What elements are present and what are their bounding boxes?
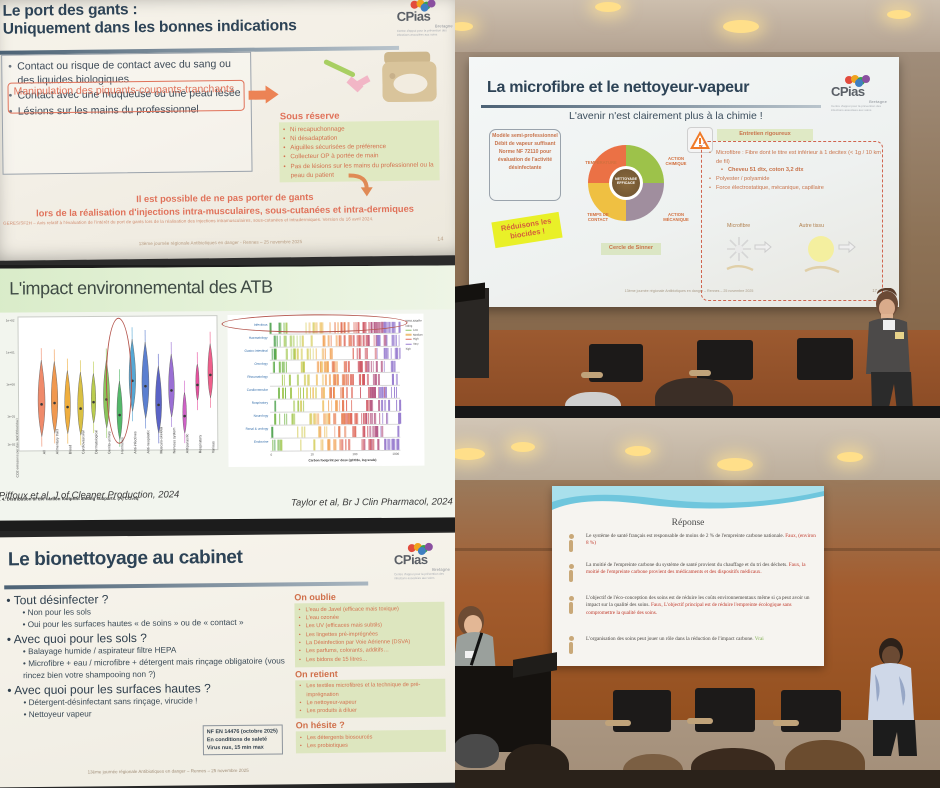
projected-slide: Le port des gants : Uniquement dans les … — [0, 0, 455, 261]
logo-dots-icon — [410, 0, 436, 9]
violin-shape — [138, 317, 152, 448]
heatmap-row — [270, 335, 405, 347]
list-item: Les produits à diluer — [300, 706, 442, 716]
logo-dots-icon — [408, 543, 434, 552]
projected-slide: Le bionettoyage au cabinet CPias Bretagn… — [0, 533, 455, 788]
list-item: Microfibre + eau / microfibre + détergen… — [23, 655, 295, 681]
sinner-circle-diagram: NETTOYAGE EFFICACE — [586, 143, 666, 223]
title-divider — [481, 105, 821, 108]
heatmap-row-label: Haematology — [228, 336, 268, 340]
seated-speaker — [859, 288, 923, 418]
heatmap-row — [270, 387, 405, 399]
page-title: Le bionettoyage au cabinet — [8, 547, 243, 571]
highlight-box-piquants: Manipulation des piquants-coupants-tranc… — [7, 80, 244, 114]
photo-collage: Le port des gants : Uniquement dans les … — [0, 0, 940, 788]
violin-shape — [190, 316, 204, 447]
spec-line: Débit de vapeur suffisant — [492, 141, 558, 149]
chair-armrest — [773, 720, 799, 726]
spec-line: Modèle semi-professionnel — [492, 133, 558, 141]
person-icon — [564, 534, 578, 552]
entretien-banner: Entretien rigoureux — [717, 129, 813, 141]
list-item: Microfibre : Fibre dont le titre est inf… — [709, 149, 881, 166]
page-title: Le port des gants : Uniquement dans les … — [2, 0, 332, 39]
chair-armrest — [689, 370, 711, 376]
person-icon — [564, 596, 578, 614]
violin-shape — [86, 317, 100, 448]
room-photo-microfibre: La microfibre et le nettoyeur-vapeur CPi… — [455, 0, 940, 418]
list-item: Les bidons de 15 litres… — [299, 655, 441, 665]
norm-note-box: NF EN 14476 (octobre 2025) En conditions… — [203, 724, 283, 755]
projection-screen: La microfibre et le nettoyeur-vapeur CPi… — [469, 57, 899, 307]
x-tick: Hormones — [120, 437, 124, 454]
seated-panelist — [853, 636, 929, 766]
x-tick: Nervous system — [172, 428, 176, 454]
sinner-segment-label-temps: TEMPS DE CONTACT — [579, 213, 617, 223]
x-tick: 1000 — [392, 452, 399, 456]
slide-header-swoosh — [552, 486, 824, 516]
slide-photo-port-des-gants: Le port des gants : Uniquement dans les … — [0, 0, 455, 265]
heatmap-row — [270, 426, 405, 438]
heatmap-row — [270, 400, 405, 412]
title-line-2: Uniquement dans les bonnes indications — [3, 17, 333, 39]
x-tick: Various — [211, 441, 215, 453]
chair-armrest — [687, 718, 713, 724]
microfibre-illustration — [719, 233, 779, 279]
title-divider — [4, 582, 368, 590]
steam-cleaner-spec-box: Modèle semi-professionnel Débit de vapeu… — [489, 129, 561, 201]
projected-slide: La microfibre et le nettoyeur-vapeur CPi… — [469, 57, 899, 307]
heatmap-row — [270, 348, 405, 360]
list-item: Les probiotiques — [300, 741, 442, 751]
audience-row-silhouette — [455, 770, 940, 788]
list-item: Force électrostatique, mécanique, capill… — [709, 184, 881, 193]
projected-slide: L'impact environnemental des ATB CO2 emi… — [0, 265, 455, 520]
ceiling-light-icon — [625, 446, 651, 456]
biocide-banner: Réduisons les biocides ! — [491, 212, 562, 248]
right-arrow-icon — [248, 85, 278, 103]
sous-reserve-title: Sous réserve — [280, 111, 340, 123]
violin-shape — [34, 317, 48, 448]
y-tick: 1e+02 — [6, 318, 15, 322]
x-tick: Dermatological — [94, 430, 98, 454]
cpias-logo: CPias Bretagne Centre d'appui pour la pr… — [831, 75, 887, 113]
ceiling-light-icon — [837, 452, 863, 462]
statement-text: L'organisation des soins peut jouer un r… — [586, 636, 754, 642]
slide-photo-impact-environnemental: L'impact environnemental des ATB CO2 emi… — [0, 265, 455, 531]
sinner-segment-label-mecanique: ACTION MÉCANIQUE — [659, 213, 693, 223]
x-tick: Genito-urinary — [107, 431, 111, 454]
y-tick: 1e+00 — [6, 382, 15, 386]
x-tick: 10 — [310, 452, 313, 456]
violin-shape — [60, 317, 74, 448]
x-axis-ticks: 0 10 100 1000 — [270, 452, 405, 453]
bionettoyage-main-content: Tout désinfecter ? Non pour les sols Oui… — [6, 588, 295, 720]
panel-on-hesite: Les détergents biosourcés Les probiotiqu… — [296, 730, 446, 753]
banner-text: Réduisons les biocides ! — [491, 212, 562, 244]
sinner-segment-label-chimique: ACTION CHIMIQUE — [659, 157, 693, 167]
panel-heading: On retient — [295, 667, 445, 679]
heatmap-row-label: Cardiovascular — [228, 388, 268, 392]
heatmap-row-label: Gastro-intestinal — [228, 349, 268, 353]
swab-illustration — [323, 54, 384, 100]
qa-item: La moitié de l'empreinte carbone du syst… — [586, 562, 818, 577]
violin-shape — [73, 317, 87, 448]
x-tick: Blood — [68, 445, 72, 454]
sinner-segment-label-temperature: TEMPÉRATURE — [581, 161, 621, 166]
logo-tagline: Centre d'appui pour la prévention des in… — [831, 105, 887, 113]
page-title: La microfibre et le nettoyeur-vapeur — [487, 79, 749, 97]
chair — [695, 688, 755, 732]
heatmap-row-label: Renal & urology — [228, 427, 268, 431]
chair — [797, 338, 853, 380]
y-tick: 1e-01 — [7, 414, 15, 418]
x-axis-label: Carbon footprint per dose (gCO2e, log sc… — [272, 458, 412, 463]
note-line: Virus nus, 15 min max — [207, 744, 279, 753]
spec-line: Norme NF 72110 pour évaluation de l'acti… — [492, 149, 558, 173]
heatmap-row — [270, 413, 405, 425]
room-photo-reponse: Réponse Le système de santé français est… — [455, 418, 940, 788]
logo-tagline: Centre d'appui pour la prévention des in… — [397, 29, 453, 37]
autre-tissu-illustration — [799, 233, 863, 279]
x-tick: 0 — [270, 453, 272, 457]
heatmap-row-label: Oncology — [228, 362, 268, 366]
heatmap-row-label: Rheumatology — [228, 375, 268, 379]
legend-entry: Medium — [413, 333, 423, 336]
page-title: Réponse — [552, 518, 824, 528]
legend-entry: Low — [413, 329, 418, 332]
microfibre-definition-list: Microfibre : Fibre dont le titre est inf… — [709, 149, 881, 192]
answer-text: Vrai — [755, 636, 764, 642]
auditorium-ceiling — [455, 0, 940, 52]
qa-item: L'organisation des soins peut jouer un r… — [586, 636, 818, 643]
projection-screen: Réponse Le système de santé français est… — [552, 486, 824, 666]
heatmap-row — [270, 374, 405, 386]
slide-footer: 13ème journée régionale Antibiotiques en… — [58, 768, 278, 775]
chair-armrest — [605, 720, 631, 726]
list-item: Nettoyeur vapeur — [24, 706, 296, 720]
audience-head — [455, 734, 499, 768]
logo-tagline: Centre d'appui pour la prévention des in… — [394, 573, 450, 581]
ceiling-light-icon — [595, 2, 621, 12]
slide-subtitle: L'avenir n'est clairement plus à la chim… — [569, 110, 763, 122]
y-tick: 1e-02 — [7, 442, 15, 446]
x-tick: Cardiovascular — [81, 430, 85, 454]
chart-legend: WHO AWaRe rating Low Medium High Very hi… — [405, 320, 423, 352]
sinner-center-label: NETTOYAGE EFFICACE — [610, 167, 642, 199]
panel-heading: On oublie — [294, 591, 444, 603]
panel-on-oublie: L'eau de Javel (efficace mais toxique) L… — [294, 602, 445, 667]
heatmap-row — [270, 361, 405, 373]
ceiling-light-icon — [723, 20, 759, 33]
slide-footer: 13ème journée régionale Antibiotiques en… — [589, 289, 789, 293]
heatmap-row-label: Endocrine — [228, 440, 268, 444]
highlight-text: Manipulation des piquants-coupants-tranc… — [13, 83, 238, 99]
slide-footer: 13ème journée régionale Antibiotiques en… — [95, 239, 345, 247]
violin-shape — [203, 316, 217, 447]
panel-heading: On hésite ? — [296, 719, 446, 731]
list-item: Oui pour les surfaces hautes « de soins … — [23, 616, 295, 630]
legend-title: WHO AWaRe rating — [405, 320, 423, 329]
x-tick: Anti-infectives — [133, 431, 137, 453]
fiber-label-autre-tissu: Autre tissu — [799, 223, 824, 229]
heatmap-row-label: Respiratory — [228, 401, 268, 405]
ceiling-light-icon — [717, 458, 753, 471]
ceiling-light-icon — [511, 442, 535, 452]
slide-page-number: 14 — [437, 236, 443, 242]
x-tick: All — [42, 450, 46, 454]
wipes-pack-illustration — [378, 49, 441, 106]
x-tick: 100 — [352, 452, 357, 456]
citation-right: Taylor et al, Br J Clin Pharmacol, 2024 — [291, 496, 453, 508]
heatmap-row-label: Neurology — [228, 414, 268, 418]
bionettoyage-side-panels: On oublie L'eau de Javel (efficace mais … — [294, 589, 446, 754]
cpias-logo: CPias Bretagne Centre d'appui pour la pr… — [396, 0, 452, 37]
barcode-heatmap-plot: WHO AWaRe rating Low Medium High Very hi… — [227, 314, 424, 467]
qa-item: L'objectif de l'éco-conception des soins… — [586, 595, 818, 617]
x-tick: Anti-neoplastic — [146, 430, 150, 454]
x-tick: Alimentary tract — [55, 429, 59, 454]
statement-text: La moitié de l'empreinte carbone du syst… — [586, 562, 788, 568]
person-icon — [564, 636, 578, 654]
ceiling-light-icon — [887, 10, 911, 19]
qa-item: Le système de santé français est respons… — [586, 533, 818, 548]
x-tick: Respiratory — [198, 435, 202, 453]
violin-y-axis: CO2 emissions per day (kgCO2eq/day) 1e+0… — [0, 316, 16, 451]
violin-shape — [177, 316, 191, 447]
page-title: L'impact environnemental des ATB — [9, 277, 273, 300]
legend-entry: High — [413, 338, 419, 341]
logo-dots-icon — [845, 75, 871, 84]
cpias-logo: CPias Bretagne Centre d'appui pour la pr… — [394, 543, 450, 581]
list-item: Les textiles microfibres et la technique… — [299, 681, 441, 699]
photo-border — [455, 406, 940, 418]
y-tick: 1e+01 — [6, 350, 15, 354]
list-item: Cheveu 51 dtx, coton 3,2 dtx — [721, 166, 881, 175]
x-tick: Musculo-skeletal — [159, 427, 163, 454]
citation-left: Piffoux et al, J of Cleaner Production, … — [0, 489, 179, 501]
chair-armrest — [581, 372, 603, 378]
slide-photo-bionettoyage: Le bionettoyage au cabinet CPias Bretagn… — [0, 531, 455, 788]
x-tick: Antiparasitic — [185, 434, 189, 454]
statement-text: Le système de santé français est respons… — [586, 533, 784, 539]
conclusion-text: Il est possible de ne pas porter de gant… — [35, 190, 415, 220]
panel-on-retient: Les textiles microfibres et la technique… — [295, 678, 445, 718]
person-icon — [564, 564, 578, 582]
fiber-label-microfibre: Microfibre — [727, 223, 750, 229]
list-item: Polyester / polyamide — [709, 175, 881, 184]
heatmap-row — [270, 439, 405, 451]
sinner-caption-banner: Cercle de Sinner — [601, 243, 661, 255]
